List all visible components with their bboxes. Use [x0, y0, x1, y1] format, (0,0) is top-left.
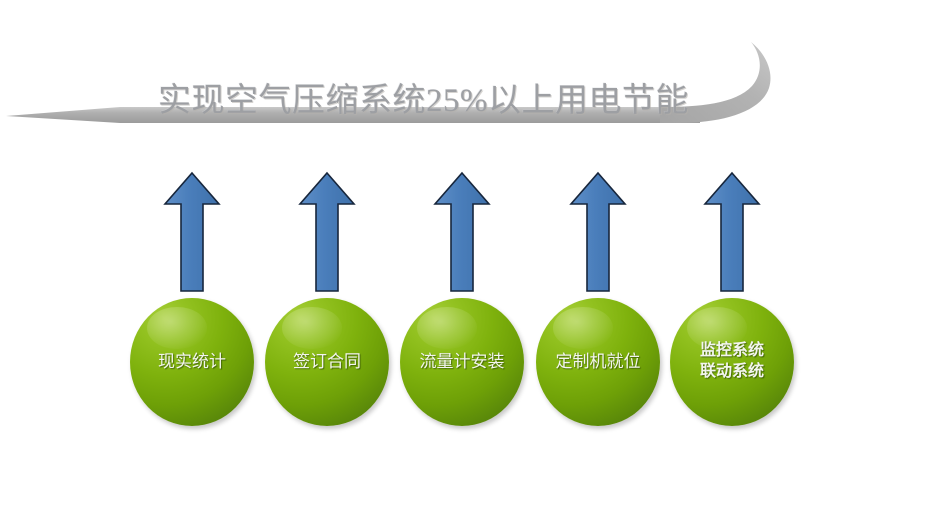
bubble-shape	[400, 298, 524, 426]
flow-bubble-5[interactable]: 监控系统 联动系统	[670, 298, 794, 426]
bubble-shape	[536, 298, 660, 426]
bubble-shape	[130, 298, 254, 426]
up-arrow-icon	[432, 170, 492, 295]
flow-bubble-1[interactable]: 现实统计	[130, 298, 254, 426]
up-arrow-icon	[297, 170, 357, 295]
flow-bubble-4[interactable]: 定制机就位	[536, 298, 660, 426]
flow-bubble-3[interactable]: 流量计安装	[400, 298, 524, 426]
bubble-shape	[670, 298, 794, 426]
bubble-shape	[265, 298, 389, 426]
up-arrow-icon	[568, 170, 628, 295]
process-flow: 现实统计	[0, 0, 945, 529]
flow-bubble-2[interactable]: 签订合同	[265, 298, 389, 426]
slide-canvas: 实现空气压缩系统25%以上用电节能	[0, 0, 945, 529]
up-arrow-icon	[162, 170, 222, 295]
up-arrow-icon	[702, 170, 762, 295]
